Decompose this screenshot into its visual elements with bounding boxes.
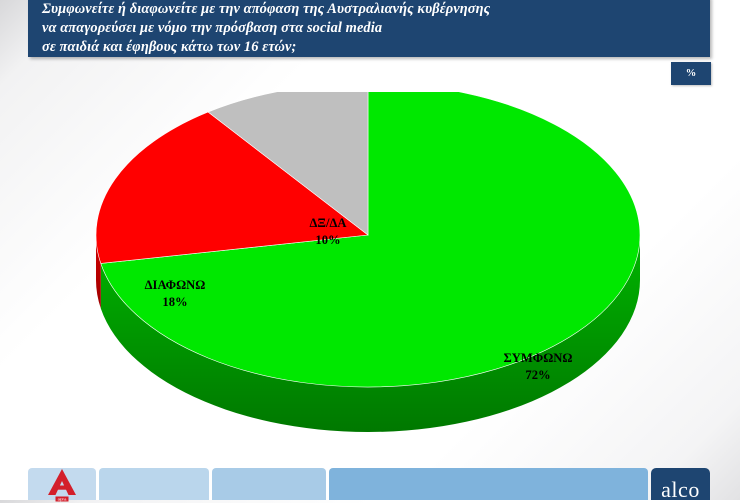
slice-label-agree: ΣΥΜΦΩΝΩ 72% [452, 350, 624, 384]
pie-chart-svg [0, 92, 740, 452]
question-title-banner: Συμφωνείτε ή διαφωνείτε με την απόφαση τ… [28, 0, 710, 57]
slice-label-disagree-value: 18% [99, 294, 251, 311]
slice-label-dk-name: ΔΞ/ΔΑ [258, 215, 398, 232]
pie-chart: ΔΞ/ΔΑ 10% ΔΙΑΦΩΝΩ 18% ΣΥΜΦΩΝΩ 72% [0, 92, 740, 452]
slice-label-agree-value: 72% [452, 367, 624, 384]
slice-label-disagree-name: ΔΙΑΦΩΝΩ [99, 277, 251, 294]
footer-segment-4 [329, 468, 648, 500]
footer-segment-2 [99, 468, 209, 500]
title-line-2: να απαγορεύσει με νόμο την πρόσβαση στα … [42, 19, 700, 38]
slice-label-disagree: ΔΙΑΦΩΝΩ 18% [99, 277, 251, 311]
slice-label-dk: ΔΞ/ΔΑ 10% [258, 215, 398, 249]
slice-label-agree-name: ΣΥΜΦΩΝΩ [452, 350, 624, 367]
footer-bar: alco alpha [0, 468, 740, 500]
percent-unit-badge: % [671, 62, 711, 85]
alco-logo-text: alco [651, 477, 710, 503]
footer-segment-3 [212, 468, 326, 500]
alpha-tv-logo-icon: alpha [46, 468, 78, 502]
title-line-3: σε παιδιά και έφηβους κάτω των 16 ετών; [42, 38, 700, 57]
slice-label-dk-value: 10% [258, 232, 398, 249]
title-line-1: Συμφωνείτε ή διαφωνείτε με την απόφαση τ… [42, 0, 700, 19]
